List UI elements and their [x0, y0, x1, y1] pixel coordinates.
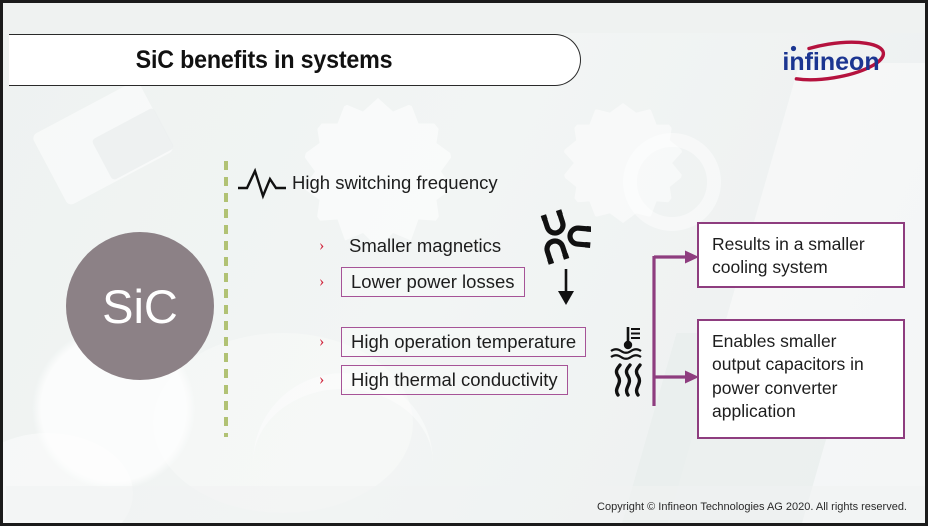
heat-waves-icon	[611, 363, 647, 397]
chevron-right-icon: ›	[319, 273, 341, 291]
dashed-divider	[224, 161, 228, 437]
copyright-notice: Copyright © Infineon Technologies AG 202…	[597, 501, 907, 513]
benefit-label: Smaller magnetics	[341, 233, 509, 259]
list-item: › Lower power losses	[319, 266, 525, 297]
benefit-label-boxed: High operation temperature	[341, 327, 586, 357]
background-watermark-gear-2	[563, 103, 683, 223]
background-watermark-chip	[31, 80, 175, 207]
benefit-label-boxed: Lower power losses	[341, 267, 525, 297]
benefit-label-boxed: High thermal conductivity	[341, 365, 568, 395]
list-item: › High thermal conductivity	[319, 364, 586, 395]
chevron-right-icon: ›	[319, 237, 341, 255]
page-title: SiC benefits in systems	[136, 46, 393, 75]
svg-text:infineon: infineon	[782, 48, 879, 76]
result-box-cooling: Results in a smaller cooling system	[697, 222, 905, 288]
down-arrow-icon	[549, 265, 583, 307]
chevron-right-icon: ›	[319, 371, 341, 389]
benefit-group-2: › High operation temperature › High ther…	[319, 326, 586, 402]
switching-waveform-icon	[236, 166, 288, 200]
infineon-logo: infineon	[769, 36, 891, 88]
chevron-right-icon: ›	[319, 333, 341, 351]
horseshoe-magnets-icon	[537, 209, 591, 265]
title-pill: SiC benefits in systems	[9, 34, 581, 86]
list-item: › High operation temperature	[319, 326, 586, 357]
slide-canvas: SiC benefits in systems infineon SiC Hig…	[0, 0, 928, 526]
sic-label: SiC	[102, 279, 178, 334]
top-benefit-row: High switching frequency	[236, 166, 498, 200]
top-benefit-label: High switching frequency	[292, 172, 498, 194]
sic-source-node: SiC	[66, 232, 214, 380]
background-watermark-chip-inner	[91, 107, 174, 180]
header-band	[3, 3, 928, 33]
list-item: › Smaller magnetics	[319, 230, 525, 261]
background-watermark-ring	[623, 133, 721, 231]
benefit-group-1: › Smaller magnetics › Lower power losses	[319, 230, 525, 302]
result-box-capacitors: Enables smaller output capacitors in pow…	[697, 319, 905, 439]
